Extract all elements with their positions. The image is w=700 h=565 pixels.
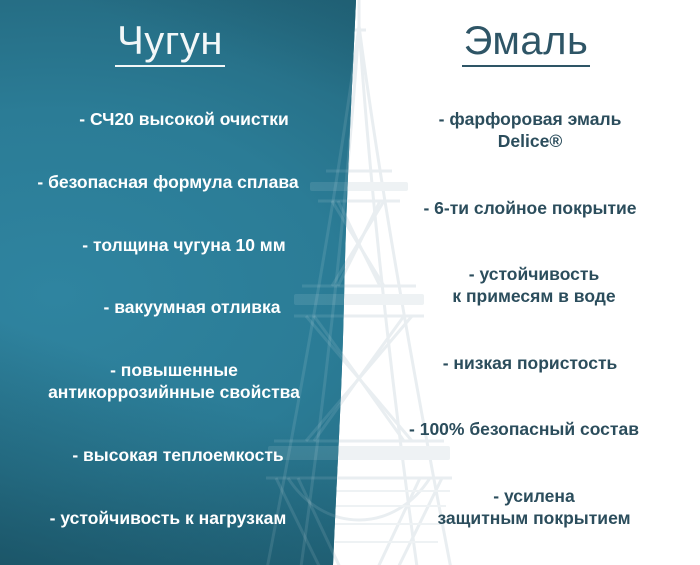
right-heading: Эмаль — [352, 20, 700, 67]
list-item: - высокая теплоемкость — [8, 444, 348, 466]
list-item: - безопасная формула сплава — [0, 171, 338, 193]
left-feature-list: - СЧ20 высокой очистки - безопасная форм… — [0, 108, 340, 529]
list-item: - СЧ20 высокой очистки — [14, 108, 354, 130]
list-item: - 6-ти слойное покрытие — [356, 197, 700, 219]
list-item: - устойчивость к нагрузкам — [0, 507, 338, 529]
right-heading-text: Эмаль — [462, 20, 591, 67]
right-column: Эмаль - фарфоровая эмаль Delice® - 6-ти … — [352, 0, 700, 565]
left-heading-text: Чугун — [115, 20, 225, 67]
list-item: - устойчивость к примесям в воде — [360, 263, 700, 307]
list-item: - низкая пористость — [356, 352, 700, 374]
list-item: - повышенные антикоррозийнные свойства — [4, 359, 344, 403]
left-column: Чугун - СЧ20 высокой очистки - безопасна… — [0, 0, 340, 565]
comparison-slide: Чугун - СЧ20 высокой очистки - безопасна… — [0, 0, 700, 565]
list-item: - усилена защитным покрытием — [360, 485, 700, 529]
list-item: - толщина чугуна 10 мм — [14, 234, 354, 256]
list-item: - 100% безопасный состав — [350, 418, 698, 440]
list-item: - фарфоровая эмаль Delice® — [356, 108, 700, 152]
right-feature-list: - фарфоровая эмаль Delice® - 6-ти слойно… — [352, 108, 700, 529]
left-heading: Чугун — [0, 20, 340, 67]
list-item: - вакуумная отливка — [22, 296, 362, 318]
